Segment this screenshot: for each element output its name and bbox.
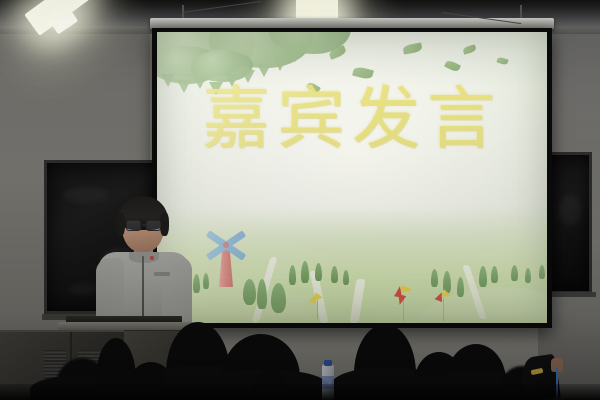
housing-bracket-right: [520, 5, 522, 18]
slide-tree: [331, 266, 338, 283]
slide-title: 嘉宾发言: [157, 86, 547, 154]
slide-pinwheel-stick: [317, 299, 318, 319]
falling-leaf: [462, 44, 476, 54]
slide-tree: [243, 279, 256, 305]
slide-pinwheel-petal: [401, 285, 413, 294]
presenter-hair-side-right: [160, 212, 169, 236]
presenter-sweatshirt-logo: [154, 272, 170, 276]
slide-tree: [271, 283, 286, 313]
projection-screen[interactable]: 嘉宾发言: [152, 28, 552, 328]
chalk-tray-right: [546, 292, 596, 297]
slide-tree: [343, 270, 349, 285]
slide-surface: 嘉宾发言: [157, 32, 547, 323]
water-bottle-cap: [324, 360, 332, 366]
blackboard-right: [548, 152, 592, 294]
falling-leaf: [496, 56, 508, 65]
glasses-icon-right-lens: [146, 220, 161, 231]
water-bottle-label: [322, 376, 334, 389]
glasses-icon-bridge: [142, 224, 147, 226]
presenter-hair-side-left: [116, 212, 125, 236]
slide-windmill-hub: [223, 242, 229, 248]
presenter: [96, 196, 192, 336]
slide-pinwheel-petal: [314, 292, 323, 301]
lanyard-strap: [556, 368, 558, 400]
slide-tree: [315, 263, 322, 281]
presenter-mic-indicator: [150, 256, 154, 260]
slide-tree: [525, 268, 531, 283]
slide-pinwheel-stick: [443, 299, 444, 321]
slide-tree: [491, 266, 498, 283]
slide-tree: [431, 269, 438, 287]
slide-tree: [203, 273, 209, 289]
slide-tree: [511, 265, 518, 281]
falling-leaf: [402, 42, 422, 54]
glasses-icon-left-lens: [126, 220, 141, 231]
slide-tree: [539, 265, 545, 279]
classroom-scene: 嘉宾发言: [0, 0, 600, 400]
falling-leaf: [444, 59, 461, 73]
